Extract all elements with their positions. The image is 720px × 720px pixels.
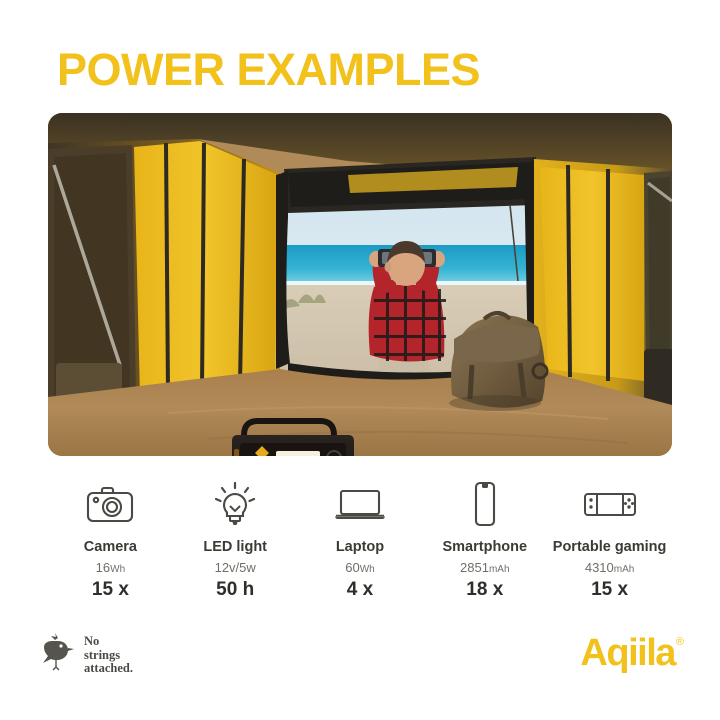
spec-item-led-light: LED light 12v/5w 50 h — [173, 478, 298, 601]
tent-wall-left — [48, 139, 280, 413]
bird-icon — [42, 633, 78, 678]
spec-item-portable-gaming: Portable gaming 4310mAh 15 x — [547, 478, 672, 601]
spec-value: 60Wh — [345, 561, 374, 575]
tagline-line-3: attached. — [84, 662, 133, 676]
spec-value: 4310mAh — [585, 561, 634, 575]
spec-item-smartphone: Smartphone 2851mAh 18 x — [422, 478, 547, 601]
spec-item-laptop: Laptop 60Wh 4 x — [298, 478, 423, 601]
hero-photo — [48, 113, 672, 456]
camera-icon — [85, 478, 135, 530]
tagline-text: No strings attached. — [84, 635, 133, 676]
spec-count: 18 x — [466, 580, 503, 601]
laptop-icon — [333, 478, 387, 530]
tagline-line-1: No — [84, 635, 133, 649]
portable-gaming-icon — [581, 478, 639, 530]
power-examples-list: Camera 16Wh 15 x LED light 12v/5w 50 — [48, 478, 672, 601]
hero-illustration — [48, 113, 672, 456]
spec-value: 2851mAh — [460, 561, 509, 575]
smartphone-icon — [470, 478, 500, 530]
spec-label: Camera — [84, 540, 137, 556]
brand-logo: Aqiila ® — [580, 634, 684, 672]
spec-value: 16Wh — [96, 561, 125, 575]
no-strings-attached-tagline: No strings attached. — [42, 633, 133, 678]
page-title: POWER EXAMPLES — [57, 47, 480, 92]
spec-item-camera: Camera 16Wh 15 x — [48, 478, 173, 601]
spec-count: 15 x — [92, 580, 129, 601]
spec-label: Portable gaming — [553, 540, 667, 556]
spec-value: 12v/5w — [215, 561, 256, 575]
spec-count: 4 x — [347, 580, 373, 601]
registered-trademark-symbol: ® — [676, 637, 684, 648]
spec-label: Smartphone — [442, 540, 527, 556]
spec-count: 50 h — [216, 580, 254, 601]
tagline-line-2: strings — [84, 649, 133, 663]
spec-label: LED light — [203, 540, 267, 556]
spec-count: 15 x — [591, 580, 628, 601]
lightbulb-icon — [213, 478, 257, 530]
brand-name: Aqiila — [580, 634, 674, 672]
spec-label: Laptop — [336, 540, 384, 556]
